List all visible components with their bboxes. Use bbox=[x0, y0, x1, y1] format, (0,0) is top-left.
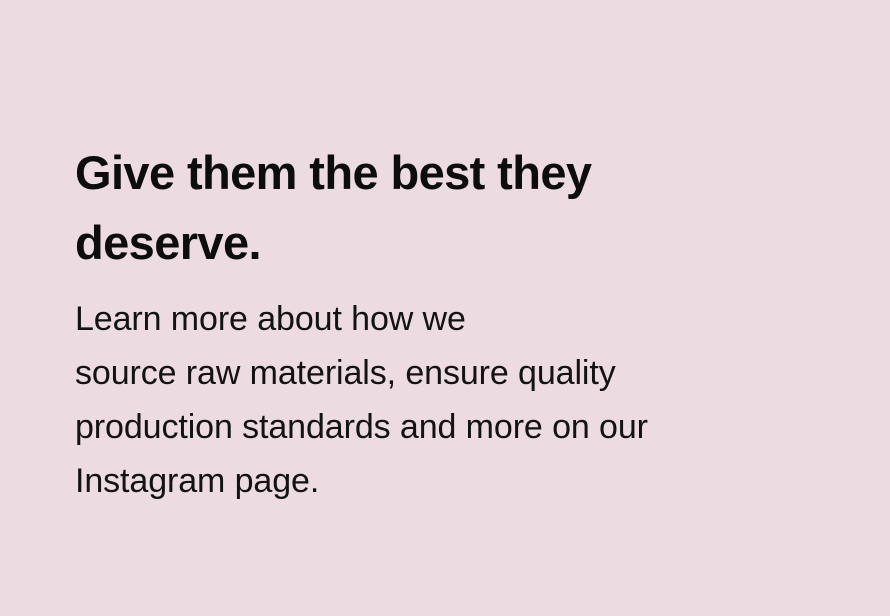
body-copy: Learn more about how we source raw mater… bbox=[75, 292, 835, 508]
headline: Give them the best they deserve. bbox=[75, 138, 835, 278]
promo-card: Give them the best they deserve. Learn m… bbox=[0, 0, 890, 616]
text-content-block: Give them the best they deserve. Learn m… bbox=[75, 138, 835, 508]
